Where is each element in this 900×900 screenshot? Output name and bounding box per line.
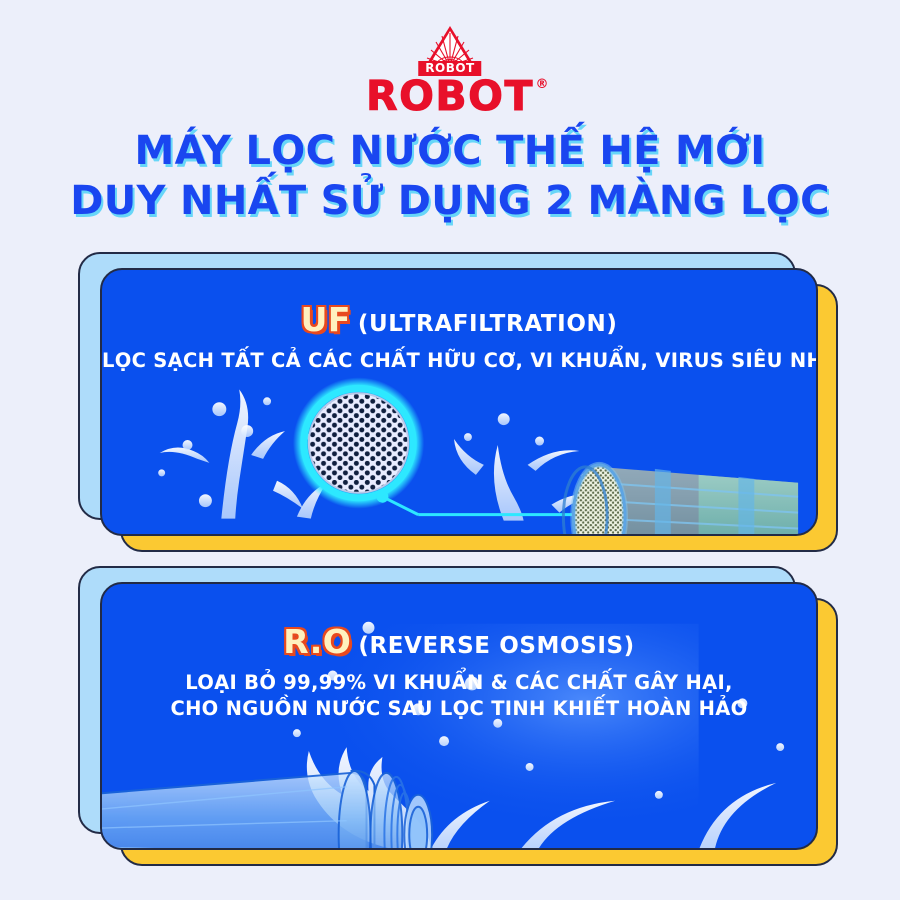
uf-cartridge-illustration xyxy=(563,465,798,536)
uf-card-heading: UF(ULTRAFILTRATION) xyxy=(102,300,816,339)
ro-subtitle-line-1: LOẠI BỎ 99,99% VI KHUẨN & CÁC CHẤT GÂY H… xyxy=(102,670,816,696)
uf-card-body: UF(ULTRAFILTRATION) LỌC SẠCH TẤT CẢ CÁC … xyxy=(100,268,818,536)
uf-tag-full: (ULTRAFILTRATION) xyxy=(358,311,618,337)
uf-card[interactable]: UF(ULTRAFILTRATION) LỌC SẠCH TẤT CẢ CÁC … xyxy=(78,252,838,552)
ro-tag: R.O xyxy=(283,622,351,661)
ro-card[interactable]: R.O(REVERSE OSMOSIS) LOẠI BỎ 99,99% VI K… xyxy=(78,566,838,866)
uf-membrane-closeup xyxy=(293,377,424,508)
ro-subtitle: LOẠI BỎ 99,99% VI KHUẨN & CÁC CHẤT GÂY H… xyxy=(102,670,816,722)
ro-card-body: R.O(REVERSE OSMOSIS) LOẠI BỎ 99,99% VI K… xyxy=(100,582,818,850)
ro-tag-full: (REVERSE OSMOSIS) xyxy=(358,633,634,659)
page-title: MÁY LỌC NƯỚC THẾ HỆ MỚI DUY NHẤT SỬ DỤNG… xyxy=(0,126,900,226)
uf-subtitle: LỌC SẠCH TẤT CẢ CÁC CHẤT HỮU CƠ, VI KHUẨ… xyxy=(102,348,816,374)
uf-subtitle-line-1: LỌC SẠCH TẤT CẢ CÁC CHẤT HỮU CƠ, VI KHUẨ… xyxy=(102,348,816,374)
ro-subtitle-line-2: CHO NGUỒN NƯỚC SAU LỌC TINH KHIẾT HOÀN H… xyxy=(102,696,816,722)
uf-connector-line xyxy=(376,491,619,515)
logo-wordmark-text: ROBOT xyxy=(366,72,534,120)
logo-wordmark: ROBOT® xyxy=(366,76,534,117)
robot-logo-mark: ROBOT xyxy=(411,26,489,74)
brand-logo: ROBOT ROBOT® xyxy=(0,26,900,117)
ro-card-heading: R.O(REVERSE OSMOSIS) xyxy=(102,622,816,661)
page-title-line-2: DUY NHẤT SỬ DỤNG 2 MÀNG LỌC xyxy=(0,176,900,226)
registered-mark-icon: ® xyxy=(536,78,551,91)
uf-tag: UF xyxy=(301,300,351,339)
ro-cartridge-illustration xyxy=(102,771,432,850)
page-title-line-1: MÁY LỌC NƯỚC THẾ HỆ MỚI xyxy=(0,126,900,176)
